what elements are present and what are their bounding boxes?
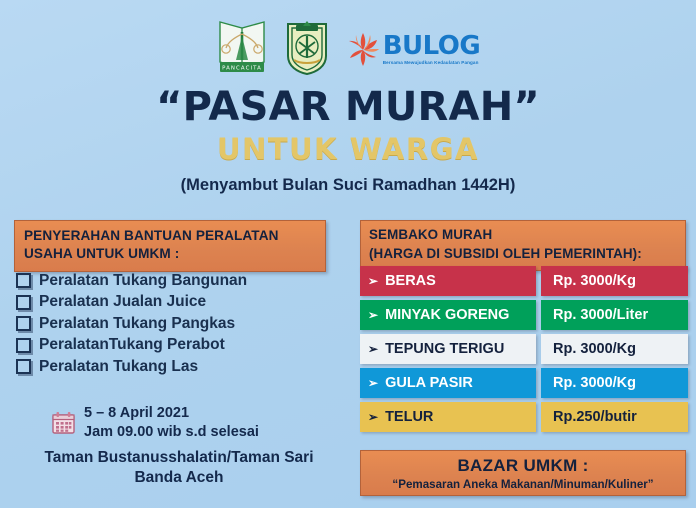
checkbox-icon: [16, 295, 31, 310]
sembako-header-line2: (HARGA DI SUBSIDI OLEH PEMERINTAH):: [369, 245, 677, 264]
venue-line-1: Taman Bustanusshalatin/Taman Sari: [14, 448, 344, 468]
arrow-bullet-icon: ➢: [368, 377, 378, 389]
item-cell: ➢ BERAS: [360, 266, 536, 296]
umkm-aid-header-line1: PENYERAHAN BANTUAN PERALATAN: [24, 227, 316, 245]
bazar-umkm-box: BAZAR UMKM : “Pemasaran Aneka Makanan/Mi…: [360, 450, 686, 496]
bazar-title: BAZAR UMKM :: [457, 456, 588, 476]
item-cell: ➢ GULA PASIR: [360, 368, 536, 398]
pancacita-logo: PANCACITA: [216, 16, 268, 78]
event-time: Jam 09.00 wib s.d selesai: [84, 423, 259, 442]
arrow-bullet-icon: ➢: [368, 411, 378, 423]
table-row: ➢ MINYAK GORENG Rp. 3000/Liter: [360, 300, 688, 330]
bazar-subtitle: “Pemasaran Aneka Makanan/Minuman/Kuliner…: [392, 478, 653, 491]
logo-row: PANCACITA: [0, 8, 696, 78]
umkm-aid-header: PENYERAHAN BANTUAN PERALATAN USAHA UNTUK…: [14, 220, 326, 272]
sembako-price-table: ➢ BERAS Rp. 3000/Kg ➢ MINYAK GORENG Rp. …: [360, 266, 688, 432]
poster-subtitle: UNTUK WARGA: [0, 132, 696, 166]
list-item: Peralatan Tukang Pangkas: [14, 313, 344, 335]
event-date: 5 – 8 April 2021: [84, 404, 259, 423]
price-cell: Rp.250/butir: [541, 402, 688, 432]
item-cell: ➢ MINYAK GORENG: [360, 300, 536, 330]
list-item-label: PeralatanTukang Perabot: [39, 336, 225, 354]
item-label: TELUR: [385, 409, 433, 425]
checkbox-icon: [16, 359, 31, 374]
schedule-block: 5 – 8 April 2021 Jam 09.00 wib s.d seles…: [14, 404, 344, 488]
bulog-starburst-icon: [346, 31, 380, 67]
umkm-aid-list: Peralatan Tukang Bangunan Peralatan Jual…: [14, 270, 344, 378]
bulog-wordmark: BULOG: [383, 33, 481, 59]
price-cell: Rp. 3000/Kg: [541, 368, 688, 398]
arrow-bullet-icon: ➢: [368, 275, 378, 287]
list-item: Peralatan Tukang Las: [14, 356, 344, 378]
pancacita-caption: PANCACITA: [222, 65, 262, 71]
poster-title: “PASAR MURAH”: [0, 84, 696, 130]
aceh-government-logo: [282, 16, 332, 78]
sembako-header-line1: SEMBAKO MURAH: [369, 226, 677, 245]
venue-line-2: Banda Aceh: [14, 468, 344, 488]
price-cell: Rp. 3000/Kg: [541, 334, 688, 364]
bulog-tagline: Bersama Mewujudkan Kedaulatan Pangan: [383, 61, 481, 66]
item-label: BERAS: [385, 273, 436, 289]
table-row: ➢ GULA PASIR Rp. 3000/Kg: [360, 368, 688, 398]
item-cell: ➢ TELUR: [360, 402, 536, 432]
list-item: PeralatanTukang Perabot: [14, 335, 344, 357]
checkbox-icon: [16, 316, 31, 331]
table-row: ➢ BERAS Rp. 3000/Kg: [360, 266, 688, 296]
arrow-bullet-icon: ➢: [368, 343, 378, 355]
table-row: ➢ TELUR Rp.250/butir: [360, 402, 688, 432]
item-cell: ➢ TEPUNG TERIGU: [360, 334, 536, 364]
item-label: MINYAK GORENG: [385, 307, 509, 323]
poster-canvas: PANCACITA: [0, 0, 696, 508]
list-item-label: Peralatan Tukang Las: [39, 358, 198, 376]
list-item-label: Peralatan Jualan Juice: [39, 293, 206, 311]
arrow-bullet-icon: ➢: [368, 309, 378, 321]
sembako-header: SEMBAKO MURAH (HARGA DI SUBSIDI OLEH PEM…: [360, 220, 686, 271]
list-item-label: Peralatan Tukang Bangunan: [39, 272, 247, 290]
umkm-aid-header-line2: USAHA UNTUK UMKM :: [24, 245, 316, 263]
list-item: Peralatan Tukang Bangunan: [14, 270, 344, 292]
checkbox-icon: [16, 273, 31, 288]
table-row: ➢ TEPUNG TERIGU Rp. 3000/Kg: [360, 334, 688, 364]
checkbox-icon: [16, 338, 31, 353]
price-cell: Rp. 3000/Liter: [541, 300, 688, 330]
list-item-label: Peralatan Tukang Pangkas: [39, 315, 235, 333]
list-item: Peralatan Jualan Juice: [14, 292, 344, 314]
poster-note: (Menyambut Bulan Suci Ramadhan 1442H): [0, 176, 696, 195]
item-label: TEPUNG TERIGU: [385, 341, 504, 357]
bulog-logo: BULOG Bersama Mewujudkan Kedaulatan Pang…: [346, 20, 481, 78]
price-cell: Rp. 3000/Kg: [541, 266, 688, 296]
calendar-icon: [52, 411, 75, 434]
item-label: GULA PASIR: [385, 375, 473, 391]
schedule-row: 5 – 8 April 2021 Jam 09.00 wib s.d seles…: [14, 404, 344, 441]
event-venue: Taman Bustanusshalatin/Taman Sari Banda …: [14, 448, 344, 488]
